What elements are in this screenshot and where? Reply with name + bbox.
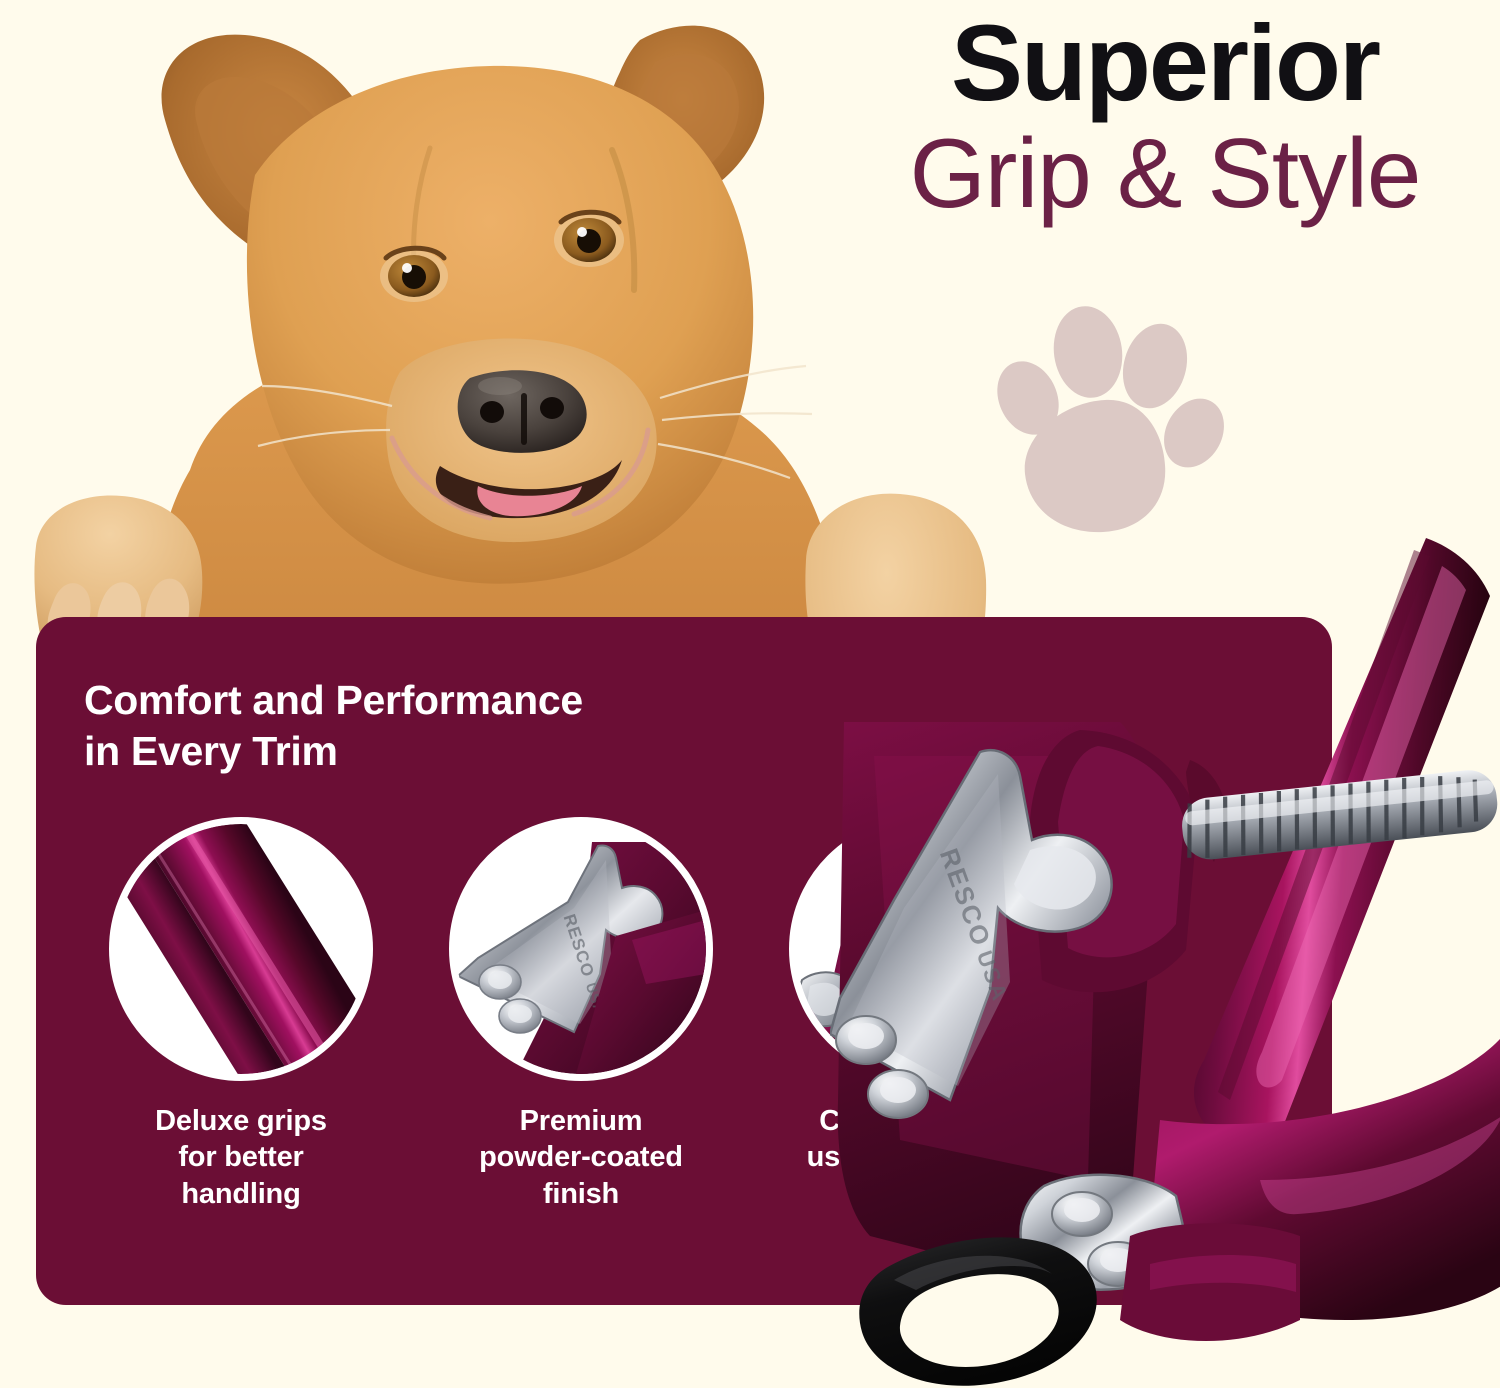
feature-image-chrome-blade: RESCO USA xyxy=(449,817,713,1081)
caption-line-1: Premium xyxy=(520,1105,643,1137)
panel-title-line-1: Comfort and Performance xyxy=(84,677,583,723)
product-marketing-image: Superior Grip & Style Comfort and Perfor… xyxy=(0,0,1500,1388)
caption-line-1: Deluxe grips xyxy=(155,1105,327,1137)
caption-line-1: Comfortable to xyxy=(819,1105,1022,1137)
feature-item: Deluxe grips for better handling xyxy=(76,817,406,1212)
headline-block: Superior Grip & Style xyxy=(845,8,1485,224)
caption-line-3: handling xyxy=(181,1178,300,1210)
feature-image-purple-handle xyxy=(109,817,373,1081)
feature-item: Comfortable to use for extended periods xyxy=(756,817,1086,1212)
feature-caption: Premium powder-coated finish xyxy=(479,1103,683,1212)
feature-item: RESCO USA xyxy=(416,817,746,1212)
feature-list: Deluxe grips for better handling xyxy=(76,817,1086,1212)
caption-line-2: use for extended xyxy=(807,1141,1036,1173)
feature-panel: Comfort and Performance in Every Trim xyxy=(36,617,1332,1305)
feature-caption: Deluxe grips for better handling xyxy=(155,1103,327,1212)
panel-title: Comfort and Performance in Every Trim xyxy=(84,675,844,777)
caption-line-2: for better xyxy=(178,1141,303,1173)
headline-primary: Superior xyxy=(845,8,1485,118)
feature-caption: Comfortable to use for extended periods xyxy=(807,1103,1036,1212)
headline-secondary: Grip & Style xyxy=(845,124,1485,224)
paw-print-icon xyxy=(985,290,1240,555)
feature-image-open-clipper xyxy=(789,817,1053,1081)
panel-title-line-2: in Every Trim xyxy=(84,728,338,774)
caption-line-2: powder-coated xyxy=(479,1141,683,1173)
caption-line-3: periods xyxy=(869,1178,972,1210)
caption-line-3: finish xyxy=(543,1178,619,1210)
